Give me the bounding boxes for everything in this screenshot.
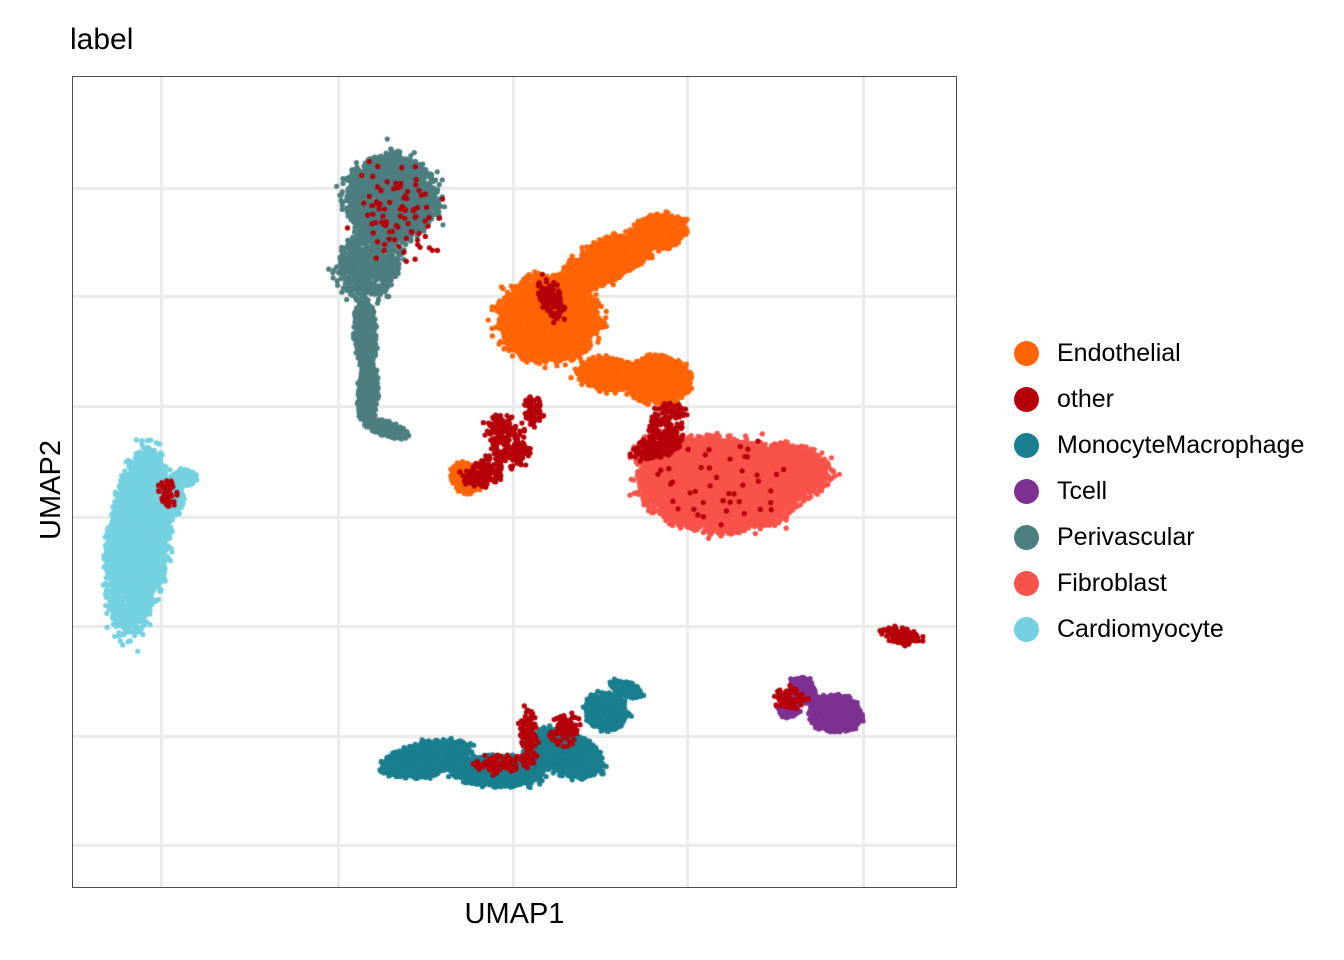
legend-swatch-icon — [1014, 617, 1039, 642]
page-title: label — [70, 22, 133, 58]
y-axis-label: UMAP2 — [33, 84, 69, 896]
legend-label: other — [1057, 385, 1114, 413]
legend-swatch-icon — [1014, 433, 1039, 458]
legend-label: MonocyteMacrophage — [1057, 431, 1304, 459]
scatter-plot-canvas[interactable] — [73, 77, 957, 888]
legend: EndothelialotherMonocyteMacrophageTcellP… — [1008, 330, 1328, 652]
legend-item-tcell[interactable]: Tcell — [1008, 468, 1328, 514]
legend-item-other[interactable]: other — [1008, 376, 1328, 422]
legend-swatch-icon — [1014, 387, 1039, 412]
legend-item-monocytemacrophage[interactable]: MonocyteMacrophage — [1008, 422, 1328, 468]
legend-label: Tcell — [1057, 477, 1107, 505]
legend-swatch-icon — [1014, 571, 1039, 596]
x-axis-label: UMAP1 — [72, 896, 957, 932]
legend-item-fibroblast[interactable]: Fibroblast — [1008, 560, 1328, 606]
legend-swatch-icon — [1014, 525, 1039, 550]
legend-item-endothelial[interactable]: Endothelial — [1008, 330, 1328, 376]
legend-swatch-icon — [1014, 479, 1039, 504]
legend-item-cardiomyocyte[interactable]: Cardiomyocyte — [1008, 606, 1328, 652]
umap-figure: label UMAP1 UMAP2 EndothelialotherMonocy… — [0, 0, 1344, 960]
plot-panel[interactable] — [72, 76, 957, 888]
legend-item-perivascular[interactable]: Perivascular — [1008, 514, 1328, 560]
legend-swatch-icon — [1014, 341, 1039, 366]
legend-label: Perivascular — [1057, 523, 1195, 551]
legend-label: Cardiomyocyte — [1057, 615, 1224, 643]
legend-label: Fibroblast — [1057, 569, 1167, 597]
legend-label: Endothelial — [1057, 339, 1181, 367]
